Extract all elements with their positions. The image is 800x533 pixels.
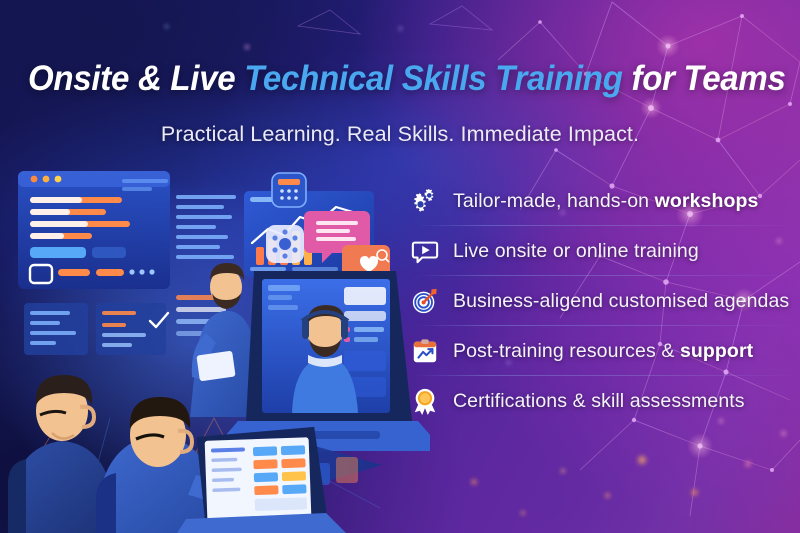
training-illustration bbox=[0, 163, 430, 533]
feature-item-certifications: Certifications & skill assessments bbox=[410, 376, 795, 426]
clipboard-chart-icon bbox=[410, 336, 440, 366]
feature-text: Business-aligend customised agendas bbox=[453, 290, 789, 313]
title-part-2-accent: Technical Skills Training bbox=[244, 58, 622, 98]
feature-list: Tailor-made, hands-on workshops Live ons… bbox=[410, 176, 795, 426]
feature-text: Certifications & skill assessments bbox=[453, 390, 745, 413]
floating-calendar-card bbox=[272, 173, 306, 207]
feature-item-agendas: Business-aligend customised agendas bbox=[410, 276, 795, 326]
video-play-icon bbox=[410, 236, 440, 266]
training-banner: Onsite & Live Technical Skills Training … bbox=[0, 0, 800, 533]
target-dart-icon bbox=[410, 286, 440, 316]
title-part-1: Onsite & Live bbox=[28, 58, 244, 98]
feature-text: Live onsite or online training bbox=[453, 240, 699, 263]
feature-text: Post-training resources & support bbox=[453, 340, 753, 363]
feature-text: Tailor-made, hands-on workshops bbox=[453, 190, 758, 213]
feature-item-post-training: Post-training resources & support bbox=[410, 326, 795, 376]
gears-icon bbox=[410, 186, 440, 216]
page-subtitle: Practical Learning. Real Skills. Immedia… bbox=[0, 122, 800, 147]
feature-item-live-training: Live onsite or online training bbox=[410, 226, 795, 276]
award-medal-icon bbox=[410, 386, 440, 416]
title-part-3: for Teams bbox=[623, 58, 786, 98]
page-title: Onsite & Live Technical Skills Training … bbox=[28, 58, 772, 99]
floating-network-card bbox=[266, 225, 304, 263]
feature-item-workshops: Tailor-made, hands-on workshops bbox=[410, 176, 795, 226]
